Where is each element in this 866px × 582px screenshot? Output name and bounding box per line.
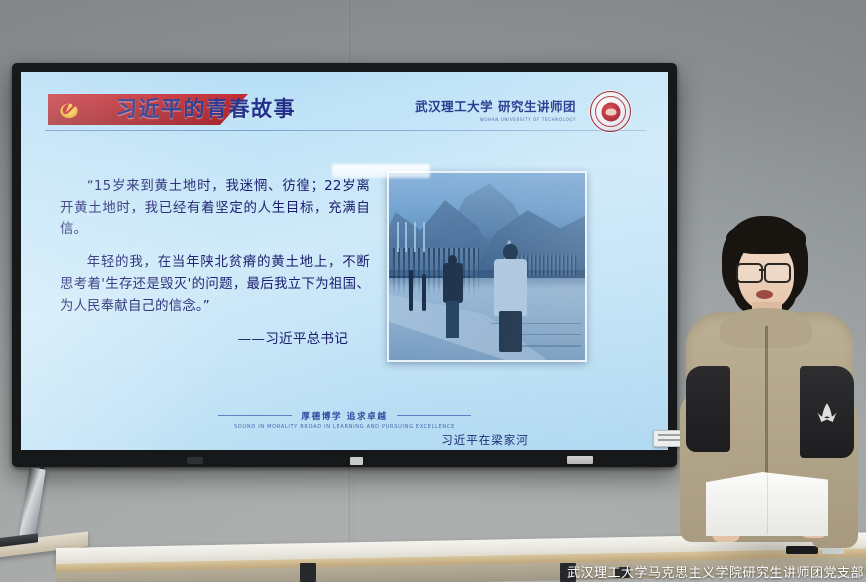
slide-footer: 厚德博学 追求卓越 SOUND IN MORALITY BROAD IN LEA… — [21, 410, 668, 431]
screen-glare-top — [332, 164, 430, 178]
slide-header: 习近平的青春故事 武汉理工大学 研究生讲师团 WUHAN UNIVERSITY … — [21, 72, 668, 134]
photo-blue-tint — [389, 173, 585, 360]
quote-paragraph-2: 年轻的我，在当年陕北贫瘠的黄土地上，不断思考着'生存还是毁灭'的问题，最后我立下… — [60, 252, 370, 317]
historical-photo — [387, 171, 587, 362]
glasses-lens-right-icon — [764, 263, 791, 283]
motto-en: SOUND IN MORALITY BROAD IN LEARNING AND … — [21, 424, 668, 430]
university-seal-icon — [590, 91, 631, 132]
display-screen: 习近平的青春故事 武汉理工大学 研究生讲师团 WUHAN UNIVERSITY … — [21, 72, 668, 450]
bezel-label — [350, 457, 363, 465]
header-divider — [45, 130, 646, 131]
watermark-text: 武汉理工大学马克思主义学院研究生讲师团党支部 — [567, 562, 864, 581]
glasses-bridge — [759, 269, 766, 271]
presentation-slide: 习近平的青春故事 武汉理工大学 研究生讲师团 WUHAN UNIVERSITY … — [21, 72, 668, 450]
motto-cn: 厚德博学 追求卓越 — [301, 410, 387, 422]
glasses-lens-left-icon — [736, 263, 763, 283]
motto-rule-right — [397, 415, 471, 416]
quote-paragraph-1: “15岁来到黄土地时，我迷惘、彷徨；22岁离开黄土地时，我已经有着坚定的人生目标… — [60, 176, 370, 241]
table-leg — [300, 563, 316, 582]
paper-crease — [767, 474, 768, 534]
photo-caption: 习近平在梁家河 — [387, 432, 583, 448]
slide-title: 习近平的青春故事 — [116, 93, 296, 123]
classroom-scene: 习近平的青春故事 武汉理工大学 研究生讲师团 WUHAN UNIVERSITY … — [0, 0, 866, 582]
quote-block: “15岁来到黄土地时，我迷惘、彷徨；22岁离开黄土地时，我已经有着坚定的人生目标… — [60, 176, 370, 361]
university-name-cn: 武汉理工大学 研究生讲师团 — [415, 96, 576, 115]
university-mark: 武汉理工大学 研究生讲师团 WUHAN UNIVERSITY OF TECHNO… — [415, 96, 576, 122]
party-emblem-hammer-sickle-icon — [57, 98, 81, 121]
motto-rule-left — [218, 415, 292, 416]
presenter-fringe — [726, 222, 806, 254]
ir-sensor — [187, 457, 203, 464]
university-name-en: WUHAN UNIVERSITY OF TECHNOLOGY — [415, 117, 576, 122]
display-brand-mark — [567, 456, 593, 464]
seal-core — [601, 103, 620, 122]
wall-mounted-display[interactable]: 习近平的青春故事 武汉理工大学 研究生讲师团 WUHAN UNIVERSITY … — [12, 63, 677, 467]
jacket-panel-left — [686, 366, 730, 452]
jacket-brand-logo-icon — [814, 402, 840, 424]
presenter-speaking — [676, 216, 864, 582]
quote-attribution: ——习近平总书记 — [60, 328, 370, 350]
presenter-mouth — [756, 290, 773, 299]
